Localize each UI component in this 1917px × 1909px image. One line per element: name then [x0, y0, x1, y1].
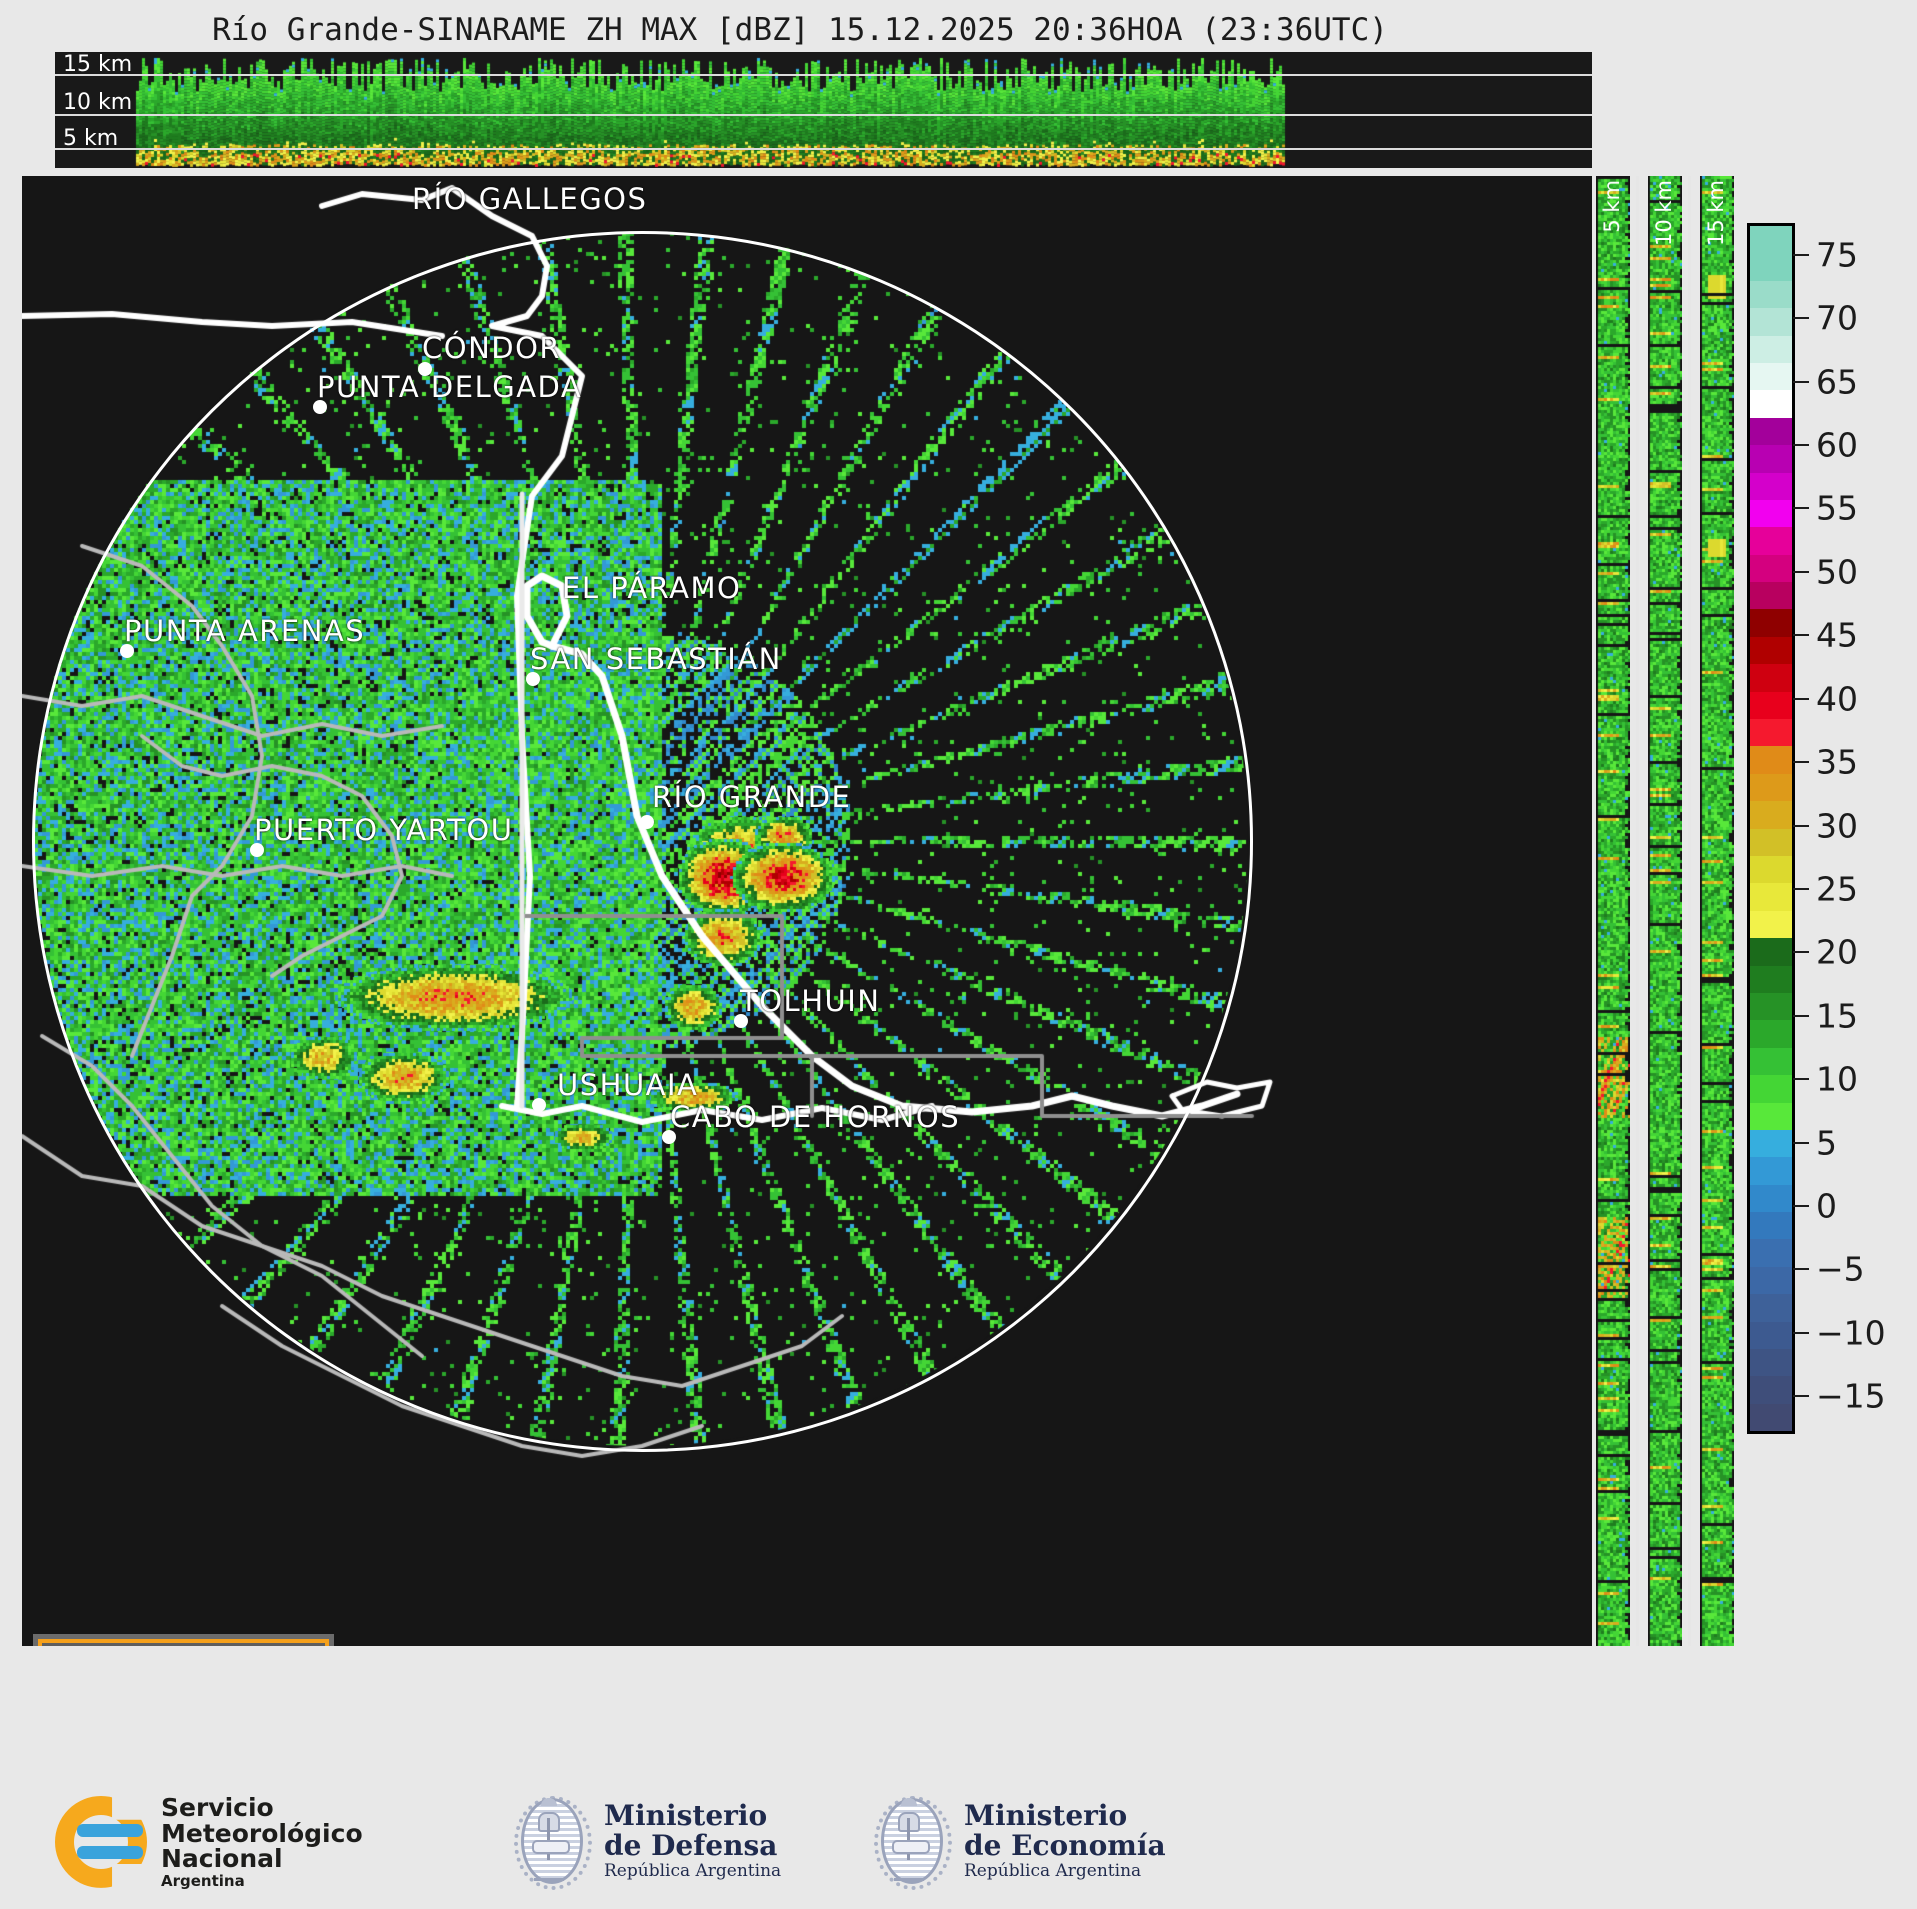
colorbar-band-5 — [1750, 363, 1792, 390]
colorbar-band-0 — [1750, 226, 1792, 253]
vxsec-divider-1 — [1636, 176, 1639, 1646]
xsec-gridline-10km — [55, 114, 1592, 116]
colorbar-tick — [1793, 1078, 1809, 1080]
logo-servicio-meteorologico-nacional: Servicio Meteorológico Nacional Argentin… — [55, 1795, 363, 1889]
colorbar-tick-label: 10 — [1816, 1060, 1858, 1099]
colorbar-band-39 — [1750, 1294, 1792, 1321]
colorbar-band-19 — [1750, 746, 1792, 773]
map-label-c-ndor: CÓNDOR — [422, 331, 561, 365]
defensa-line1: Ministerio — [604, 1801, 781, 1830]
colorbar-band-23 — [1750, 856, 1792, 883]
colorbar-band-15 — [1750, 637, 1792, 664]
colorbar-tick-label: 25 — [1816, 869, 1858, 908]
colorbar-band-36 — [1750, 1212, 1792, 1239]
colorbar-tick-label: −15 — [1816, 1377, 1886, 1416]
colorbar-tick-label: 0 — [1816, 1187, 1837, 1226]
vxsec-label-5km: 5 km — [1600, 180, 1624, 233]
colorbar-tick-label: 30 — [1816, 806, 1858, 845]
xsec-gridline-5km — [55, 148, 1592, 150]
economia-line2: de Economía — [964, 1831, 1166, 1860]
xsec-gridline-15km — [55, 74, 1592, 76]
colorbar-band-32 — [1750, 1103, 1792, 1130]
xsec-label-15km: 15 km — [63, 52, 132, 77]
colorbar-tick-label: 5 — [1816, 1123, 1837, 1162]
colorbar-tick-label: 50 — [1816, 552, 1858, 591]
colorbar-band-42 — [1750, 1376, 1792, 1403]
map-label-cabo-de-hornos: CABO DE HORNOS — [670, 1100, 960, 1134]
colorbar-band-6 — [1750, 390, 1792, 417]
colorbar-band-18 — [1750, 719, 1792, 746]
colorbar-tick-label: 20 — [1816, 933, 1858, 972]
colorbar-tick-label: 40 — [1816, 679, 1858, 718]
colorbar-tick-label: −5 — [1816, 1250, 1865, 1289]
smn-line3: Nacional — [161, 1846, 363, 1872]
radar-range-ring — [32, 231, 1253, 1452]
colorbar-tick — [1793, 1395, 1809, 1397]
colorbar-tick — [1793, 951, 1809, 953]
vertical-cross-section-panel-3: 15 km — [1700, 176, 1734, 1646]
smn-logo-icon — [55, 1796, 147, 1888]
colorbar — [1747, 223, 1795, 1434]
colorbar-tick — [1793, 1205, 1809, 1207]
colorbar-tick — [1793, 571, 1809, 573]
colorbar-band-4 — [1750, 336, 1792, 363]
vxsec-label-10km: 10 km — [1652, 180, 1676, 246]
colorbar-tick — [1793, 888, 1809, 890]
page-title: Río Grande-SINARAME ZH MAX [dBZ] 15.12.2… — [0, 12, 1600, 48]
map-label-ushuaia: USHUAIA — [557, 1068, 698, 1102]
xsec-label-10km: 10 km — [63, 90, 132, 115]
colorbar-tick-label: 35 — [1816, 743, 1858, 782]
colorbar-band-38 — [1750, 1267, 1792, 1294]
radar-map-panel[interactable]: RÍO GALLEGOSCÓNDORPUNTA DELGADAEL PÁRAMO… — [22, 176, 1592, 1646]
map-city-dot — [526, 672, 540, 686]
smn-line1: Servicio — [161, 1795, 363, 1821]
colorbar-band-10 — [1750, 500, 1792, 527]
map-city-dot — [120, 644, 134, 658]
colorbar-band-1 — [1750, 253, 1792, 280]
colorbar-tick — [1793, 1332, 1809, 1334]
colorbar-band-22 — [1750, 829, 1792, 856]
xsec-label-5km: 5 km — [63, 126, 118, 151]
colorbar-band-40 — [1750, 1322, 1792, 1349]
map-label-punta-arenas: PUNTA ARENAS — [124, 614, 365, 648]
map-label-el-p-ramo: EL PÁRAMO — [562, 571, 741, 605]
map-city-dot — [734, 1014, 748, 1028]
map-city-dot — [532, 1098, 546, 1112]
colorbar-tick — [1793, 381, 1809, 383]
defensa-line3: República Argentina — [604, 1863, 781, 1881]
colorbar-tick — [1793, 1268, 1809, 1270]
map-city-dot — [313, 400, 327, 414]
colorbar-band-34 — [1750, 1157, 1792, 1184]
colorbar-band-7 — [1750, 418, 1792, 445]
colorbar-band-24 — [1750, 883, 1792, 910]
colorbar-tick-label: 60 — [1816, 425, 1858, 464]
colorbar-band-14 — [1750, 609, 1792, 636]
colorbar-band-28 — [1750, 993, 1792, 1020]
logo-ministerio-de-economia: Ministerio de Economía República Argenti… — [870, 1790, 1166, 1892]
colorbar-tick-label: 75 — [1816, 235, 1858, 274]
colorbar-band-8 — [1750, 445, 1792, 472]
colorbar-band-2 — [1750, 281, 1792, 308]
map-city-dot — [640, 815, 654, 829]
smn-line4: Argentina — [161, 1874, 363, 1889]
logo-ministerio-de-defensa: Ministerio de Defensa República Argentin… — [510, 1790, 781, 1892]
colorbar-band-25 — [1750, 911, 1792, 938]
colorbar-tick — [1793, 761, 1809, 763]
economia-line1: Ministerio — [964, 1801, 1166, 1830]
map-label-punta-delgada: PUNTA DELGADA — [317, 370, 582, 404]
colorbar-band-17 — [1750, 692, 1792, 719]
economia-line3: República Argentina — [964, 1863, 1166, 1881]
vertical-cross-section-panel: 5 km — [1596, 176, 1630, 1646]
colorbar-tick — [1793, 698, 1809, 700]
vertical-cross-section-panel-2: 10 km — [1648, 176, 1682, 1646]
colorbar-tick — [1793, 634, 1809, 636]
colorbar-band-43 — [1750, 1404, 1792, 1431]
argentina-coat-of-arms-icon-2 — [870, 1790, 948, 1892]
colorbar-tick — [1793, 317, 1809, 319]
colorbar-tick-label: 55 — [1816, 489, 1858, 528]
colorbar-tick-label: 45 — [1816, 616, 1858, 655]
smn-line2: Meteorológico — [161, 1821, 363, 1847]
colorbar-band-26 — [1750, 938, 1792, 965]
map-label-r-o-grande: RÍO GRANDE — [652, 780, 851, 814]
colorbar-band-13 — [1750, 582, 1792, 609]
map-city-dot — [250, 843, 264, 857]
colorbar-tick — [1793, 254, 1809, 256]
colorbar-tick — [1793, 507, 1809, 509]
colorbar-band-12 — [1750, 555, 1792, 582]
colorbar-band-16 — [1750, 664, 1792, 691]
top-cross-section-panel: 15 km 10 km 5 km — [55, 52, 1592, 168]
colorbar-band-21 — [1750, 801, 1792, 828]
vxsec-label-15km: 15 km — [1704, 180, 1728, 246]
colorbar-tick-label: 15 — [1816, 996, 1858, 1035]
colorbar-band-30 — [1750, 1048, 1792, 1075]
colorbar-tick — [1793, 444, 1809, 446]
colorbar-band-29 — [1750, 1020, 1792, 1047]
map-label-r-o-gallegos: RÍO GALLEGOS — [412, 182, 647, 216]
colorbar-band-31 — [1750, 1075, 1792, 1102]
footer: Servicio Meteorológico Nacional Argentin… — [0, 1650, 1917, 1909]
colorbar-band-41 — [1750, 1349, 1792, 1376]
colorbar-tick-label: −10 — [1816, 1313, 1886, 1352]
defensa-line2: de Defensa — [604, 1831, 781, 1860]
colorbar-tick-label: 70 — [1816, 299, 1858, 338]
argentina-coat-of-arms-icon — [510, 1790, 588, 1892]
colorbar-band-27 — [1750, 966, 1792, 993]
colorbar-band-35 — [1750, 1185, 1792, 1212]
map-label-tolhuin: TOLHUIN — [740, 984, 880, 1018]
map-city-dot — [662, 1130, 676, 1144]
colorbar-band-37 — [1750, 1239, 1792, 1266]
map-label-puerto-yartou: PUERTO YARTOU — [254, 813, 513, 847]
colorbar-band-33 — [1750, 1130, 1792, 1157]
colorbar-band-20 — [1750, 774, 1792, 801]
avisos-box[interactable]: Avisos Meteorológicos a Muy Corto Plazo — [38, 1639, 329, 1646]
colorbar-band-9 — [1750, 473, 1792, 500]
colorbar-tick-label: 65 — [1816, 362, 1858, 401]
vxsec-divider-2 — [1688, 176, 1691, 1646]
colorbar-tick — [1793, 1142, 1809, 1144]
colorbar-tick — [1793, 1015, 1809, 1017]
colorbar-band-11 — [1750, 527, 1792, 554]
colorbar-band-3 — [1750, 308, 1792, 335]
colorbar-tick — [1793, 825, 1809, 827]
map-label-san-sebasti-n: SAN SEBASTIÁN — [530, 642, 782, 676]
